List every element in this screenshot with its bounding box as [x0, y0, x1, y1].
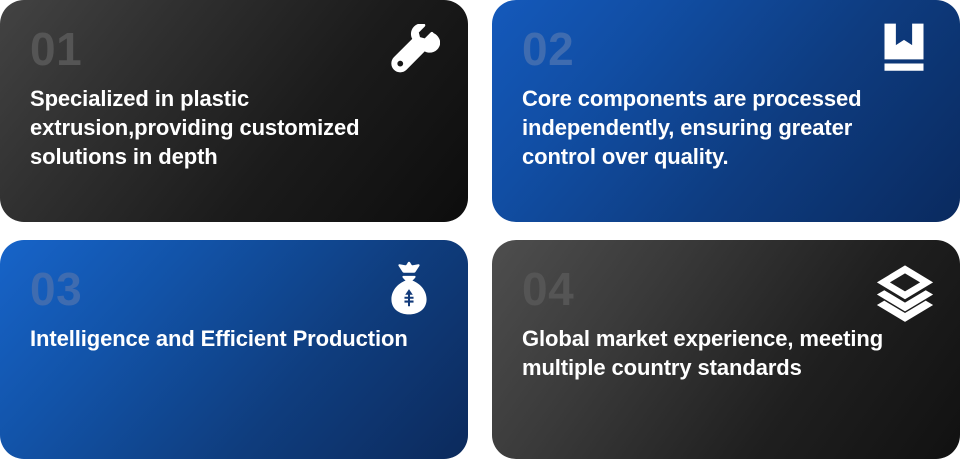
feature-card-02[interactable]: 02 Core components are processed indepen…	[492, 0, 960, 222]
money-bag-yen-icon	[380, 260, 438, 318]
layers-stack-icon	[874, 262, 936, 324]
card-text-03: Intelligence and Efficient Production	[30, 324, 438, 353]
card-text-01: Specialized in plastic extrusion,providi…	[30, 84, 438, 171]
card-text-04: Global market experience, meeting multip…	[522, 324, 930, 382]
feature-card-03[interactable]: 03 Intelligence and Efficient Production	[0, 240, 468, 459]
feature-card-grid: 01 Specialized in plastic extrusion,prov…	[0, 0, 960, 459]
card-text-02: Core components are processed independen…	[522, 84, 930, 171]
card-number-01: 01	[30, 26, 438, 72]
card-number-03: 03	[30, 266, 438, 312]
feature-card-04[interactable]: 04 Global market experience, meeting mul…	[492, 240, 960, 459]
card-number-02: 02	[522, 26, 930, 72]
wrench-icon	[386, 24, 440, 78]
feature-card-01[interactable]: 01 Specialized in plastic extrusion,prov…	[0, 0, 468, 222]
card-number-04: 04	[522, 266, 930, 312]
book-bookmark-icon	[878, 22, 930, 74]
